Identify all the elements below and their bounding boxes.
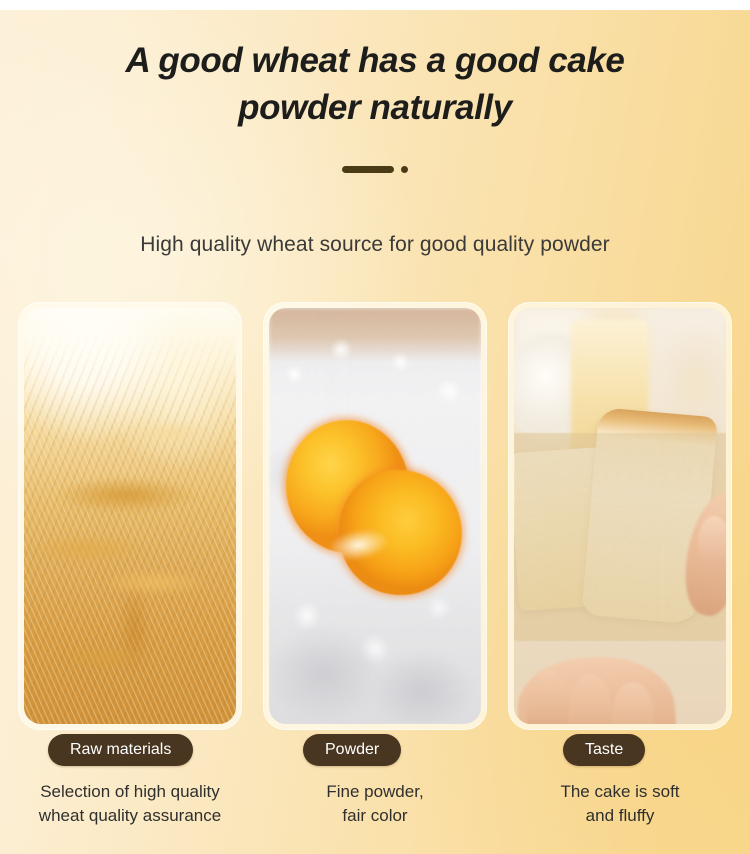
wheat-photo-icon [24,308,236,724]
caption-line-2: fair color [263,804,487,828]
hand-thumb [698,516,726,570]
feature-card-powder[interactable] [263,302,487,730]
status-badge-powder[interactable]: Powder [303,734,401,766]
caption-line-1: The cake is soft [508,780,732,804]
status-badge-raw-materials[interactable]: Raw materials [48,734,193,766]
status-badge-taste[interactable]: Taste [563,734,645,766]
feature-card-row [18,302,732,730]
promo-banner: A good wheat has a good cake powder natu… [0,0,750,854]
feature-card-taste[interactable] [508,302,732,730]
caption-powder: Fine powder, fair color [263,780,487,828]
egg-yolk-flour-photo-icon [269,308,481,724]
caption-line-2: wheat quality assurance [18,804,242,828]
caption-line-2: and fluffy [508,804,732,828]
caption-line-1: Fine powder, [263,780,487,804]
caption-line-1: Selection of high quality [18,780,242,804]
bar-dot-divider-icon [0,166,750,173]
divider-dot [401,166,408,173]
caption-row: Selection of high quality wheat quality … [18,780,732,828]
headline-line-2: powder naturally [0,85,750,132]
page-title: A good wheat has a good cake powder natu… [0,38,750,131]
badge-row: Raw materials Powder Taste [18,734,732,766]
caption-raw-materials: Selection of high quality wheat quality … [18,780,242,828]
caption-taste: The cake is soft and fluffy [508,780,732,828]
divider-bar [342,166,394,173]
page-subtitle: High quality wheat source for good quali… [0,233,750,257]
headline-line-1: A good wheat has a good cake [126,41,625,80]
fluffy-cake-photo-icon [514,308,726,724]
feature-card-raw-materials[interactable] [18,302,242,730]
